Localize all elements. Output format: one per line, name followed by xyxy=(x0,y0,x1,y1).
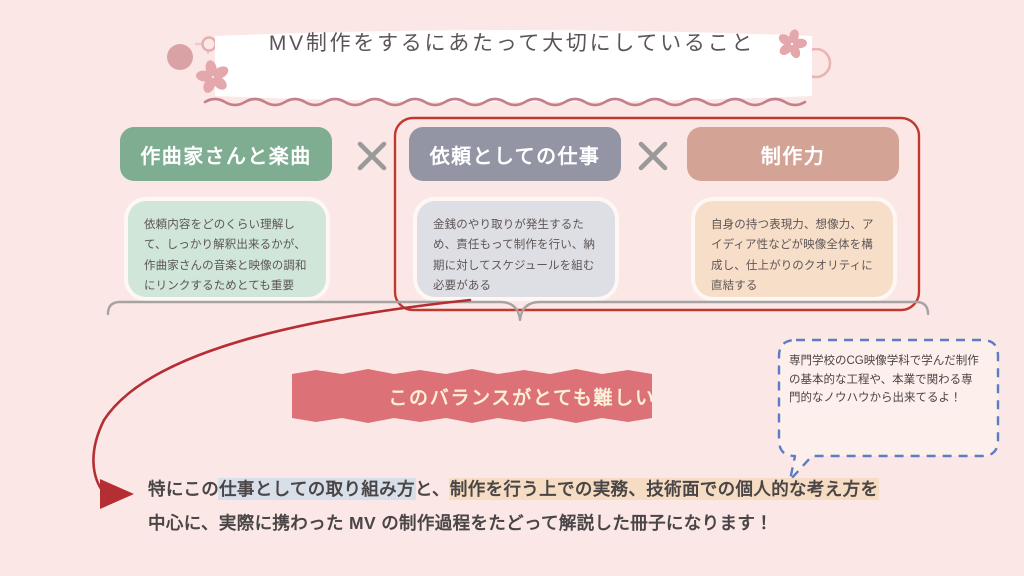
page-title: MV制作をするにあたって大切にしていること xyxy=(0,0,1024,84)
pillar-1-panel: 依頼内容をどのくらい理解して、しっかり解釈出来るかが、作曲家さんの音楽と映像の調… xyxy=(128,201,326,297)
bottom-copy: 特にこの仕事としての取り組み方と、制作を行う上での実務、技術面での個人的な考え方… xyxy=(148,472,1008,540)
pillar-3-label: 制作力 xyxy=(761,140,825,169)
pillar-1-title: 作曲家さんと楽曲 xyxy=(120,127,332,181)
pillar-2-body: 金銭のやり取りが発生するため、責任もって制作を行い、納期に対してスケジュールを組… xyxy=(433,219,595,292)
speech-bubble-text: 専門学校のCG映像学科で学んだ制作の基本的な工程や、本業で関わる専門的なノウハウ… xyxy=(789,352,979,452)
ribbon-label: このバランスがとても難しい xyxy=(296,374,748,418)
cross-separator-2 xyxy=(636,139,670,173)
pillar-1-body: 依頼内容をどのくらい理解して、しっかり解釈出来るかが、作曲家さんの音楽と映像の調… xyxy=(144,219,307,292)
bottom-copy-line-2: 中心に、実際に携わった MV の制作過程をたどって解説した冊子になります！ xyxy=(148,506,1008,540)
pillar-3-body: 自身の持つ表現力、想像力、アイディア性などが映像全体を構成し、仕上がりのクオリテ… xyxy=(711,219,874,292)
bottom-copy-highlight-blue: 仕事としての取り組み方 xyxy=(219,479,415,499)
grouping-brace xyxy=(108,302,928,320)
pillar-3-title: 制作力 xyxy=(687,127,899,181)
bottom-copy-pre: 特にこの xyxy=(148,479,219,499)
pillar-2-label: 依頼としての仕事 xyxy=(430,140,601,169)
pillar-1-label: 作曲家さんと楽曲 xyxy=(140,140,311,169)
bottom-copy-line-1: 特にこの仕事としての取り組み方と、制作を行う上での実務、技術面での個人的な考え方… xyxy=(148,472,1008,506)
pillar-2-panel: 金銭のやり取りが発生するため、責任もって制作を行い、納期に対してスケジュールを組… xyxy=(417,201,615,297)
bottom-copy-highlight-orange: 制作を行う上での実務、技術面での個人的な考え方を xyxy=(450,479,878,499)
slide-canvas: MV制作をするにあたって大切にしていること 作曲家さんと楽曲 依頼内容をどのくら… xyxy=(0,0,1024,576)
pillar-2-title: 依頼としての仕事 xyxy=(409,127,621,181)
pillar-3-panel: 自身の持つ表現力、想像力、アイディア性などが映像全体を構成し、仕上がりのクオリテ… xyxy=(695,201,893,297)
red-arrow-head xyxy=(100,479,134,509)
cross-separator-1 xyxy=(355,139,389,173)
bottom-copy-mid: と、 xyxy=(415,479,450,499)
